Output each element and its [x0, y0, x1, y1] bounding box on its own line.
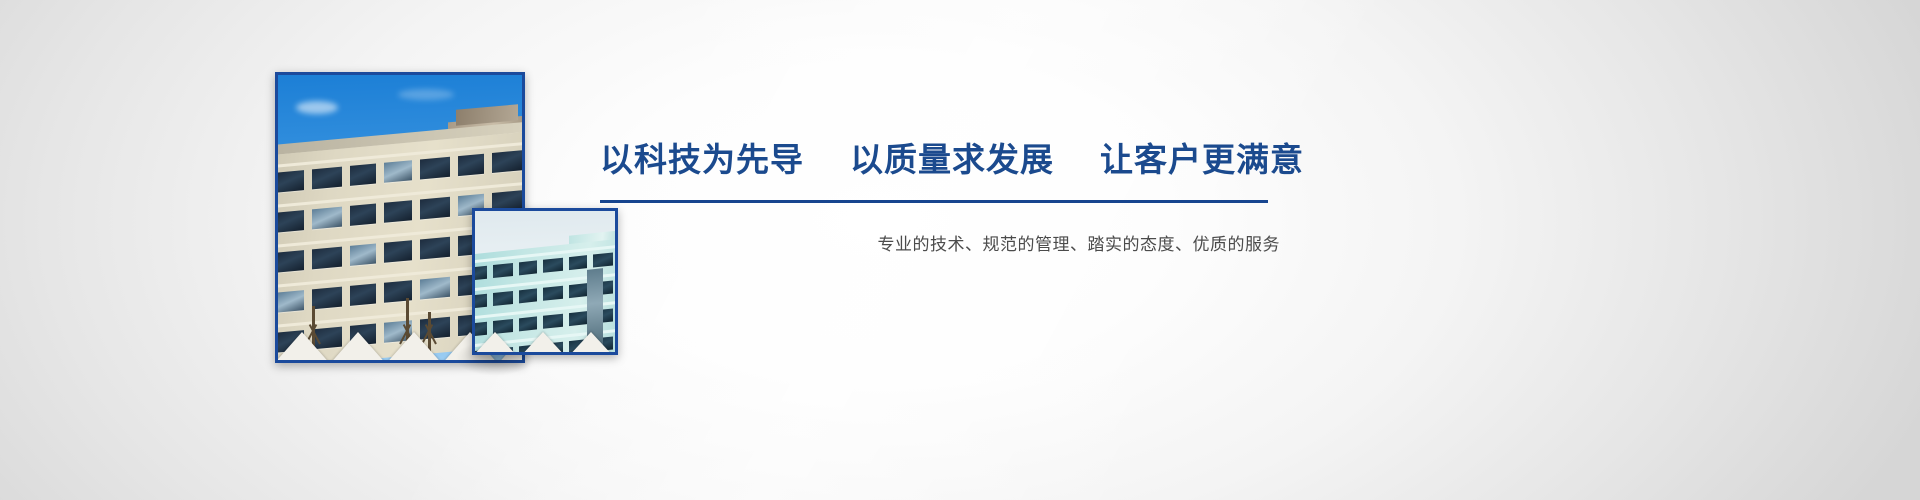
headline-phrase-3: 让客户更满意: [1100, 140, 1304, 180]
tent-icon: [475, 332, 519, 352]
cloud-icon: [296, 101, 338, 114]
photo-scene-secondary: [475, 211, 615, 352]
tent-icon: [278, 332, 332, 360]
tent-icon: [519, 332, 567, 352]
banner-text-block: 以科技为先导 以质量求发展 让客户更满意 专业的技术、规范的管理、踏实的态度、优…: [600, 140, 1280, 255]
banner-subtitle: 专业的技术、规范的管理、踏实的态度、优质的服务: [600, 230, 1280, 255]
company-banner: 以科技为先导 以质量求发展 让客户更满意 专业的技术、规范的管理、踏实的态度、优…: [0, 0, 1920, 500]
cloud-icon: [398, 89, 454, 100]
tent-icon: [384, 332, 444, 360]
headline-phrase-1: 以科技为先导: [600, 140, 804, 180]
tent-icon: [328, 332, 388, 360]
headline-divider: [600, 200, 1268, 203]
banner-headline: 以科技为先导 以质量求发展 让客户更满意: [600, 140, 1280, 180]
photo-office-building-secondary: [472, 208, 618, 355]
tent-icon: [567, 332, 615, 352]
headline-phrase-2: 以质量求发展: [850, 140, 1054, 180]
canopy-tents: [475, 318, 615, 352]
